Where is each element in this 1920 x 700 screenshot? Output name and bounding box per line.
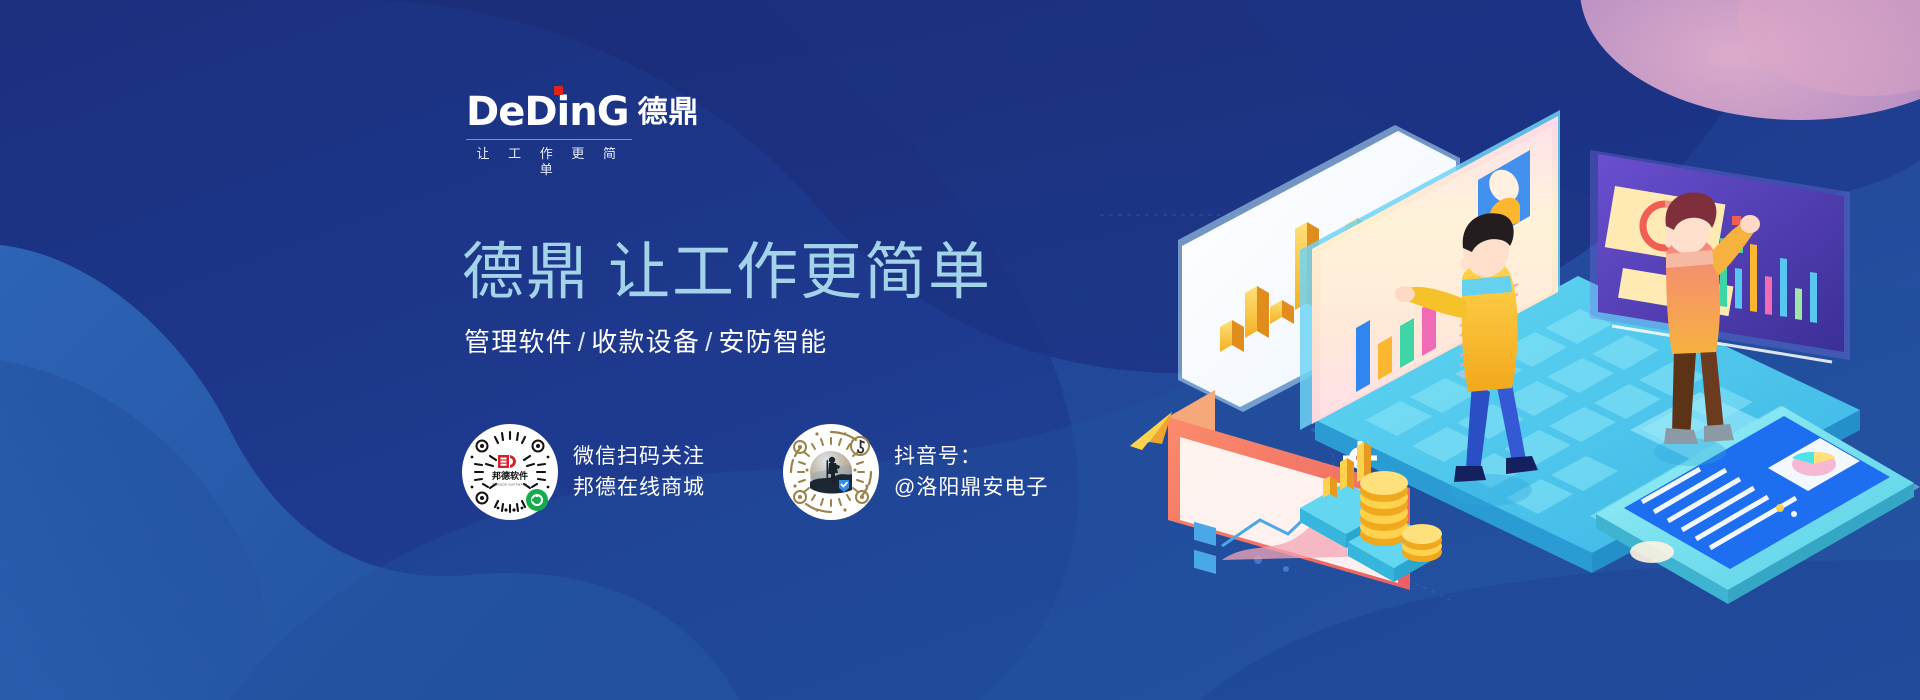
subtitle-item-1: 管理软件 <box>464 327 573 357</box>
content-column: DeDinG 德鼎 让 工 作 更 简 单 德鼎让工作更简单 管理软件/收款设备… <box>0 0 1100 700</box>
subtitle: 管理软件/收款设备/安防智能 <box>464 325 827 359</box>
logo-chinese-text: 德鼎 <box>638 94 700 132</box>
qr-code-row: 邦德软件 BANGDE SOFTWARE 微信扫码关注 <box>462 424 1048 520</box>
wechat-caption-line-1: 微信扫码关注 <box>573 441 705 472</box>
page-title: 德鼎让工作更简单 <box>462 237 992 309</box>
douyin-qr-caption: 抖音号： @洛阳鼎安电子 <box>894 441 1048 503</box>
paper-plane-icon <box>1128 410 1180 458</box>
subtitle-item-2: 收款设备 <box>591 327 700 357</box>
promotional-banner: DeDinG 德鼎 让 工 作 更 简 单 德鼎让工作更简单 管理软件/收款设备… <box>0 0 1920 700</box>
logo-divider <box>466 139 632 140</box>
svg-text:BANGDE SOFTWARE: BANGDE SOFTWARE <box>493 483 528 487</box>
svg-text:邦德软件: 邦德软件 <box>492 470 528 482</box>
subtitle-separator-2: / <box>705 327 713 357</box>
headline-slogan: 让工作更简单 <box>608 238 992 307</box>
douyin-qr-code[interactable] <box>783 424 879 520</box>
subtitle-item-3: 安防智能 <box>719 327 828 357</box>
douyin-caption-line-2: @洛阳鼎安电子 <box>894 472 1048 503</box>
isometric-illustration <box>1160 0 1920 700</box>
logo-red-dot <box>554 86 563 95</box>
qr-item-wechat[interactable]: 邦德软件 BANGDE SOFTWARE 微信扫码关注 <box>462 424 705 520</box>
brand-logo[interactable]: DeDinG 德鼎 让 工 作 更 简 单 <box>466 86 766 178</box>
subtitle-separator-1: / <box>578 327 586 357</box>
wechat-qr-code[interactable]: 邦德软件 BANGDE SOFTWARE <box>462 424 558 520</box>
douyin-caption-line-1: 抖音号： <box>894 441 1048 472</box>
logo-mark: DeDinG 德鼎 <box>466 86 766 132</box>
wechat-caption-line-2: 邦德在线商城 <box>573 472 705 503</box>
logo-tagline: 让 工 作 更 简 单 <box>466 146 634 178</box>
headline-brand: 德鼎 <box>462 238 590 307</box>
logo-latin-text: DeDinG <box>466 92 629 132</box>
wechat-qr-caption: 微信扫码关注 邦德在线商城 <box>573 441 705 503</box>
qr-item-douyin[interactable]: 抖音号： @洛阳鼎安电子 <box>783 424 1048 520</box>
